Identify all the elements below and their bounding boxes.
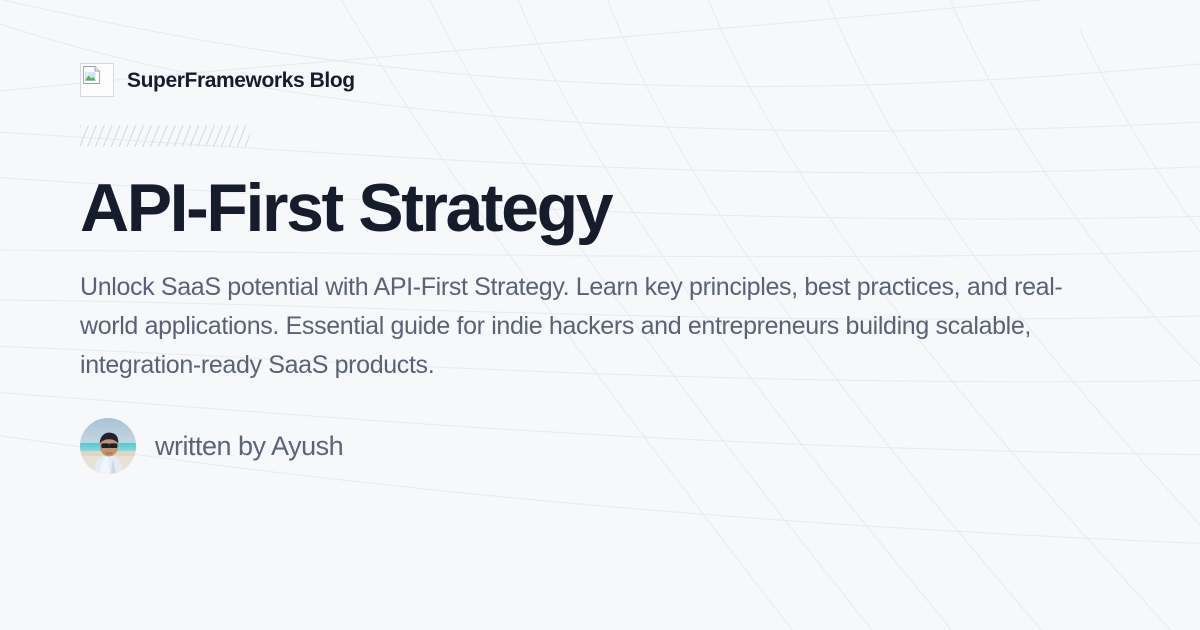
post-description: Unlock SaaS potential with API-First Str… (80, 268, 1080, 385)
brand-header[interactable]: SuperFrameworks Blog (80, 60, 1120, 100)
open-graph-card: SuperFrameworks Blog API-First Strategy … (0, 0, 1200, 630)
page-title: API-First Strategy (80, 174, 1120, 242)
avatar (80, 418, 136, 474)
brand-name: SuperFrameworks Blog (127, 70, 355, 91)
broken-image-icon (80, 63, 114, 97)
card-content: SuperFrameworks Blog API-First Strategy … (0, 0, 1200, 474)
author-byline-row: written by Ayush (80, 418, 1120, 474)
hatch-slashes-divider (80, 125, 250, 147)
author-byline: written by Ayush (155, 433, 343, 460)
